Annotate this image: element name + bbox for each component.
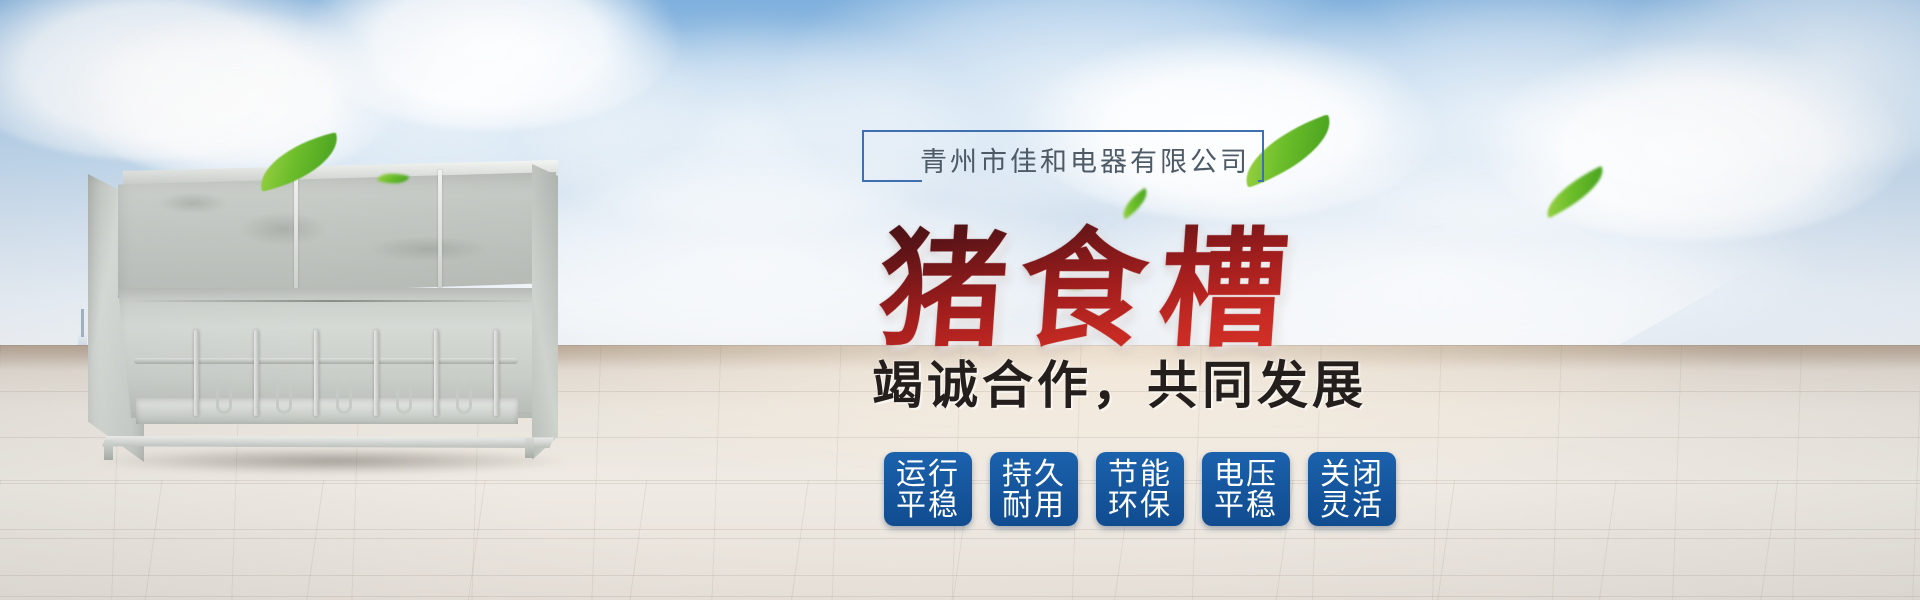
feature-badge-line1: 运行 xyxy=(896,459,960,490)
feature-badge-line1: 关闭 xyxy=(1320,459,1384,490)
feature-badge[interactable]: 关闭 灵活 xyxy=(1308,452,1396,526)
feature-badge-line2: 平稳 xyxy=(896,490,960,521)
company-name: 青州市佳和电器有限公司 xyxy=(920,140,1280,179)
promo-banner: 青州市佳和电器有限公司 猪食槽 竭诚合作，共同发展 运行 平稳 持久 耐用 节能… xyxy=(0,0,1920,600)
feature-badge-line2: 平稳 xyxy=(1214,490,1278,521)
feature-badge-line2: 灵活 xyxy=(1320,490,1384,521)
slogan: 竭诚合作，共同发展 xyxy=(872,344,1367,418)
feature-badge[interactable]: 运行 平稳 xyxy=(884,452,972,526)
feature-badge-list: 运行 平稳 持久 耐用 节能 环保 电压 平稳 关闭 灵活 xyxy=(884,452,1396,526)
feature-badge[interactable]: 节能 环保 xyxy=(1096,452,1184,526)
feature-badge-line1: 持久 xyxy=(1002,459,1066,490)
stainless-steel-pig-feeding-trough xyxy=(88,160,558,460)
feature-badge-line1: 电压 xyxy=(1214,459,1278,490)
feature-badge-line2: 环保 xyxy=(1108,490,1172,521)
feature-badge[interactable]: 电压 平稳 xyxy=(1202,452,1290,526)
feature-badge-line1: 节能 xyxy=(1108,459,1172,490)
feature-badge-line2: 耐用 xyxy=(1002,490,1066,521)
feature-badge[interactable]: 持久 耐用 xyxy=(990,452,1078,526)
